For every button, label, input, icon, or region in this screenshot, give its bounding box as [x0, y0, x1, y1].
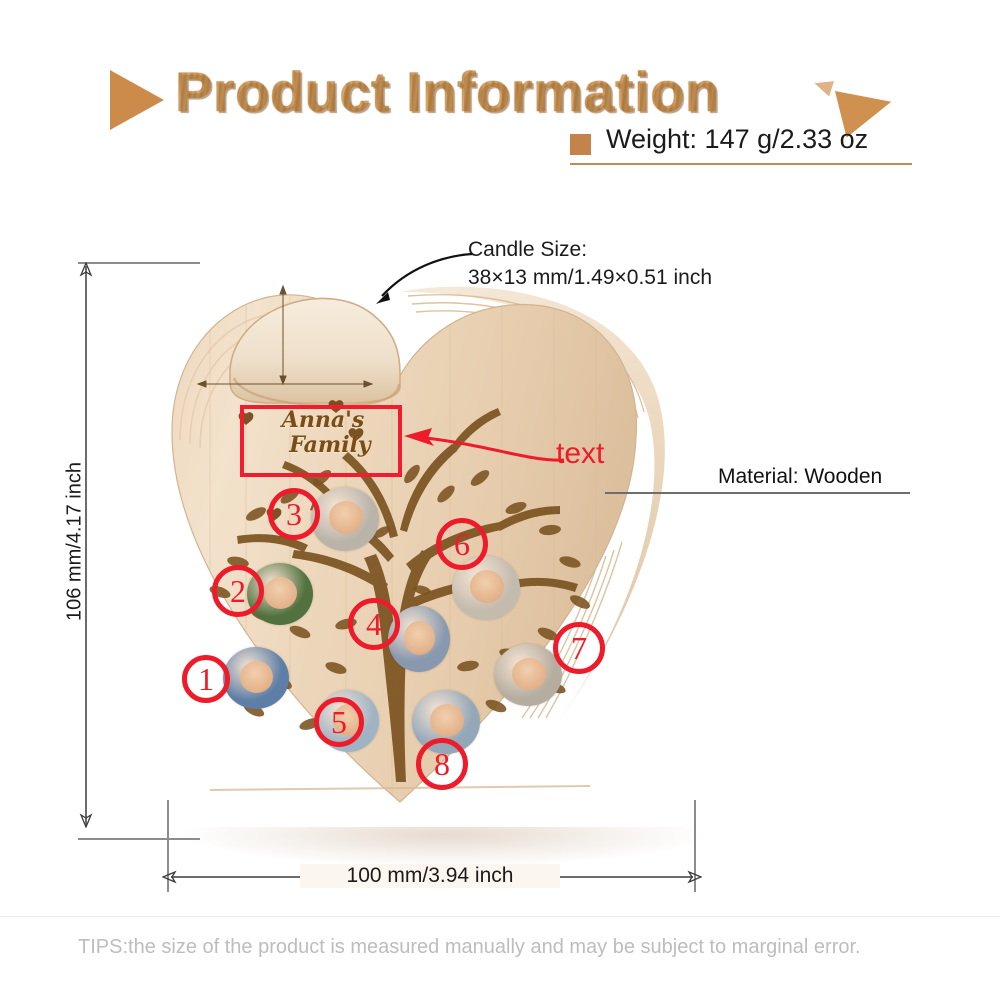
height-arrow-top-icon [78, 262, 94, 278]
material-label: Material: Wooden [718, 465, 882, 489]
product-information-page: Product Information Product Information … [0, 0, 1000, 1000]
photo-number-marker-7: 7 [553, 622, 605, 674]
engraved-name-line1: Anna's [248, 408, 398, 433]
page-title: Product Information [175, 64, 720, 120]
text-callout-label: text [556, 437, 604, 471]
photo-number-marker-8: 8 [416, 738, 468, 790]
photo-number-marker-5: 5 [314, 697, 364, 747]
photo-number-marker-6: 6 [436, 518, 488, 570]
material-leader-line [605, 492, 910, 494]
photo-face [512, 658, 546, 690]
photo-face [329, 501, 363, 534]
photo-face [430, 704, 464, 737]
square-bullet-icon [570, 134, 591, 155]
photo-face [470, 570, 504, 603]
engraved-name-line2: Family [248, 433, 398, 458]
footer-divider [0, 916, 1000, 917]
photo-face [264, 577, 297, 609]
photo-slot [223, 647, 289, 709]
photo-face [240, 661, 273, 693]
width-arrow-right-icon [686, 869, 702, 885]
height-arrow-bottom-icon [78, 812, 94, 828]
photo-number-marker-4: 4 [348, 598, 400, 650]
photo-number-marker-1: 1 [182, 655, 230, 703]
photo-slot [494, 644, 562, 706]
height-dimension-label: 106 mm/4.17 inch [64, 432, 87, 652]
text-callout-arrow [392, 420, 572, 472]
photo-slot [311, 487, 379, 551]
weight-underline [570, 163, 912, 165]
photo-number-marker-2: 2 [212, 565, 264, 617]
photo-number-marker-3: 3 [268, 488, 320, 540]
header-banner: Product Information Product Information [0, 28, 1000, 120]
height-extension-line-top [78, 262, 200, 264]
candle-size-title: Candle Size: [468, 236, 888, 264]
engraved-name-text: Anna's Family [248, 408, 398, 476]
width-dimension-label: 100 mm/3.94 inch [300, 864, 560, 888]
width-arrow-left-icon [162, 869, 178, 885]
weight-spec-row: Weight: 147 g/2.33 oz [570, 126, 915, 166]
tips-note: TIPS:the size of the product is measured… [78, 936, 861, 959]
height-extension-line-bottom [78, 838, 200, 840]
product-shadow [180, 827, 710, 867]
triangle-right-icon [110, 70, 164, 130]
weight-label: Weight: 147 g/2.33 oz [606, 124, 868, 155]
photo-face [404, 621, 435, 655]
triangle-left-small-icon [812, 76, 834, 97]
